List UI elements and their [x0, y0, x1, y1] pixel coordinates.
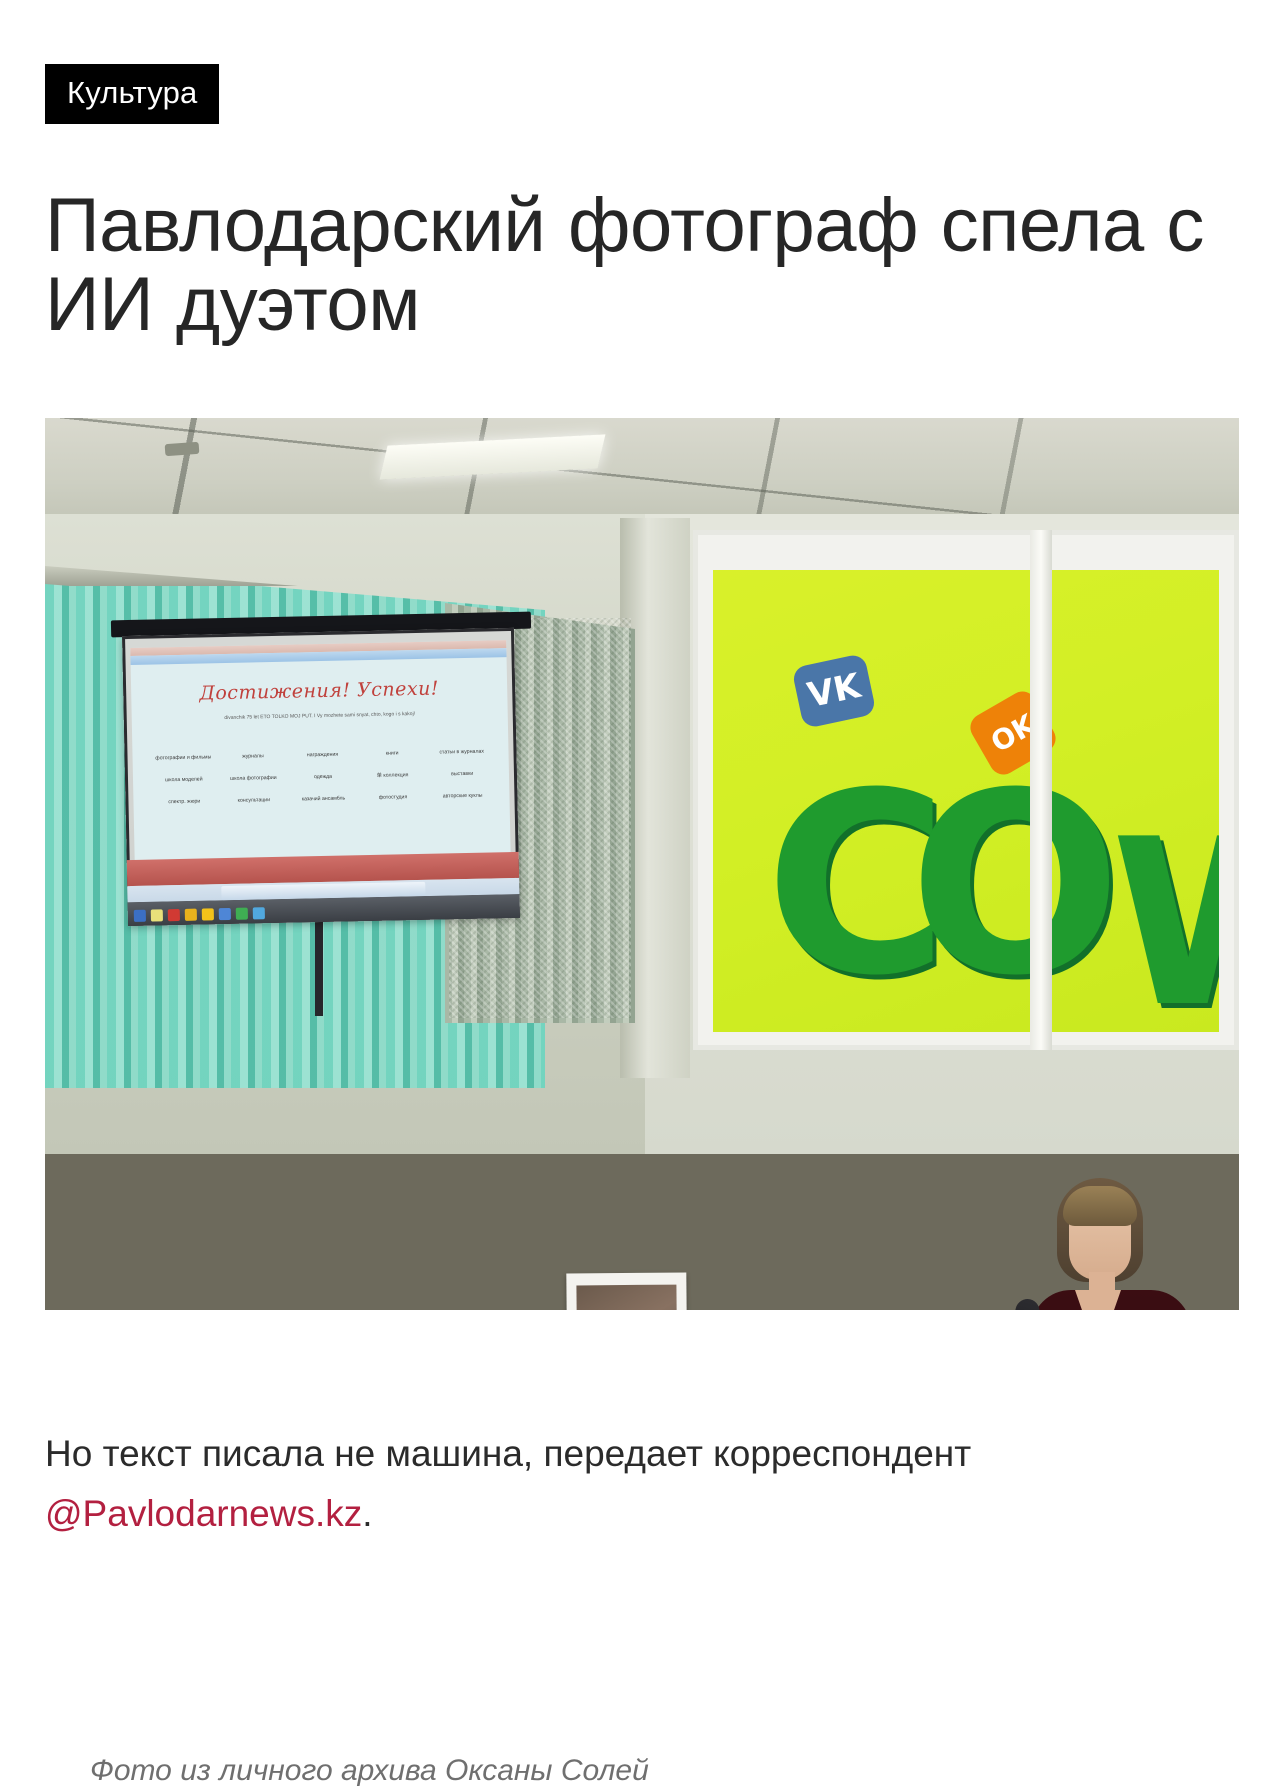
- source-link[interactable]: @Pavlodarnews.kz: [45, 1493, 362, 1534]
- easel-photo-print: [566, 1272, 687, 1310]
- slide-item: выставки: [429, 770, 495, 779]
- projector-screen: Достижения! Успехи! divanchik 75 let ETO…: [122, 628, 520, 926]
- article-photo: VK OK C O W Достижения! Успехи! divanchi…: [45, 418, 1239, 1310]
- slide-item: фотографии и фильмы: [151, 754, 217, 763]
- photo-caption: Фото из личного архива Оксаны Солей: [90, 1751, 1280, 1790]
- slide-item: авторские куклы: [430, 792, 496, 801]
- taskbar-media-icon: [168, 909, 180, 921]
- slide-title: Достижения! Успехи!: [131, 676, 507, 706]
- sepia-photograph: [576, 1285, 677, 1310]
- banner-letter-o: O: [909, 760, 1122, 1010]
- slide-item: казачий ансамбль: [291, 795, 357, 804]
- slide-item: школа моделей: [151, 776, 217, 785]
- slide-item: одежда: [290, 773, 356, 782]
- speaker-hair-front: [1063, 1186, 1137, 1226]
- taskbar-excel-icon: [236, 908, 248, 920]
- taskbar-word-icon: [219, 908, 231, 920]
- windows-taskbar: [127, 878, 520, 926]
- slide-subtitle: divanchik 75 let ETO TOLKO MOJ PUT. I Vy…: [132, 708, 508, 724]
- projector-screen-stand: [315, 916, 323, 1016]
- speaker-neckline: [1075, 1290, 1121, 1310]
- slide-item-grid: фотографии и фильмы журналы награждения …: [151, 748, 496, 807]
- category-badge[interactable]: Культура: [45, 64, 219, 124]
- body-text-lead: Но текст писала не машина, передает корр…: [45, 1433, 971, 1474]
- taskbar-toolbar: [221, 882, 425, 900]
- green-wall-banner: VK OK C O W: [713, 570, 1219, 1032]
- taskbar-app-icon: [185, 909, 197, 921]
- slide-item: книги: [359, 750, 425, 759]
- article-body: Но текст писала не машина, передает корр…: [45, 1424, 1245, 1544]
- slide-item: спектр. жюри: [151, 798, 217, 807]
- slide-item: консультации: [221, 796, 287, 805]
- taskbar-icon-row: [134, 907, 265, 922]
- presentation-slide: Достижения! Успехи! divanchik 75 let ETO…: [130, 640, 511, 884]
- article-page: Культура Павлодарский фотограф спела с И…: [0, 0, 1284, 1609]
- taskbar-folder-icon: [151, 909, 163, 921]
- slide-item: награждения: [290, 751, 356, 760]
- slide-item: 单 коллекция: [360, 772, 426, 781]
- taskbar-yandex-icon: [202, 908, 214, 920]
- banner-letter-w: W: [1111, 810, 1219, 1032]
- article-figure: VK OK C O W Достижения! Успехи! divanchi…: [45, 418, 1239, 1310]
- taskbar-browser-icon: [134, 910, 146, 922]
- ceiling-vent: [165, 442, 200, 456]
- slide-item: журналы: [220, 753, 286, 762]
- slide-item: фотостудия: [360, 793, 426, 802]
- vk-logo-icon: VK: [791, 653, 876, 729]
- taskbar-chat-icon: [253, 907, 265, 919]
- slide-item: школа фотографии: [221, 775, 287, 784]
- window-mullion: [1030, 530, 1052, 1050]
- page-title: Павлодарский фотограф спела с ИИ дуэтом: [45, 186, 1245, 344]
- speaker-woman: [1013, 1178, 1203, 1310]
- body-text-trailing: .: [362, 1493, 372, 1534]
- slide-item: статьи в журналах: [429, 748, 495, 757]
